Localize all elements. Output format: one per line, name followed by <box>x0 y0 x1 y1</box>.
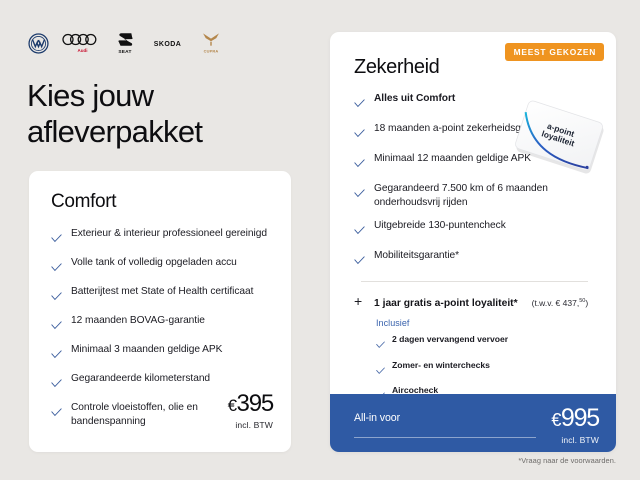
page-title: Kies jouw afleverpakket <box>27 78 302 150</box>
skoda-logo: SKODA <box>148 38 187 49</box>
loyalty-highlight-row: + 1 jaar gratis a-point loyaliteit* (t.w… <box>354 296 604 309</box>
feature-label: 12 maanden BOVAG-garantie <box>71 314 205 328</box>
comfort-price-vat: incl. BTW <box>228 420 273 430</box>
feature-label: Minimaal 12 maanden geldige APK <box>374 152 531 166</box>
feature-label: Gegarandeerde kilometerstand <box>71 372 210 386</box>
list-item: Zomer- en winterchecks <box>376 360 551 380</box>
feature-row: 18 maanden a-point zekerheidsgarantie <box>354 122 602 143</box>
comfort-package-card[interactable]: Comfort Exterieur & interieur profession… <box>29 171 291 452</box>
zekerheid-price-block: €995 incl. BTW <box>551 406 599 445</box>
check-icon <box>51 404 62 422</box>
brand-logo-strip: Audi SEAT SKODA CUPRA <box>28 31 222 55</box>
feature-label: 18 maanden a-point zekerheidsgarantie <box>374 122 552 136</box>
loyalty-value-prefix: (t.w.v. € 437, <box>532 298 580 308</box>
svg-text:SEAT: SEAT <box>118 49 131 55</box>
price-amount: 995 <box>561 404 599 432</box>
check-icon <box>51 346 62 364</box>
feature-row: Uitgebreide 130-puntencheck <box>354 219 602 240</box>
comfort-price-block: €395 incl. BTW <box>228 392 273 430</box>
check-icon <box>376 362 385 380</box>
inclusief-label: Inclusief <box>376 318 551 328</box>
svg-text:SKODA: SKODA <box>154 40 182 47</box>
cupra-logo: CUPRA <box>200 32 222 54</box>
zekerheid-price-vat: incl. BTW <box>551 435 599 445</box>
check-icon <box>51 317 62 335</box>
feature-row: Alles uit Comfort <box>354 92 602 113</box>
feature-label: Alles uit Comfort <box>374 92 455 106</box>
allin-label: All-in voor <box>354 412 400 424</box>
feature-row: Gegarandeerd 7.500 km of 6 maanden onder… <box>354 182 602 210</box>
comfort-title: Comfort <box>51 191 116 213</box>
zekerheid-package-card[interactable]: MEEST GEKOZEN Zekerheid Alles uit Comfor… <box>330 32 616 452</box>
list-item: 2 dagen vervangend vervoer <box>376 334 551 354</box>
list-item-label: Zomer- en winterchecks <box>392 360 490 370</box>
svg-text:Audi: Audi <box>77 48 87 53</box>
feature-row: 12 maanden BOVAG-garantie <box>51 314 273 335</box>
check-icon <box>354 155 365 173</box>
comfort-price: €395 <box>228 392 273 416</box>
check-icon <box>51 288 62 306</box>
feature-row: Minimaal 3 maanden geldige APK <box>51 343 273 364</box>
check-icon <box>51 259 62 277</box>
zekerheid-feature-list: Alles uit Comfort 18 maanden a-point zek… <box>354 92 602 279</box>
seat-logo: SEAT <box>115 32 135 55</box>
currency-symbol: € <box>228 396 237 415</box>
list-item-label: 2 dagen vervangend vervoer <box>392 334 508 344</box>
price-amount: 395 <box>237 390 273 417</box>
left-column: Audi SEAT SKODA CUPRA Kies <box>0 0 320 480</box>
currency-symbol: € <box>551 410 561 430</box>
feature-label: Volle tank of volledig opgeladen accu <box>71 256 237 270</box>
audi-logo: Audi <box>62 33 102 54</box>
status-badge: MEEST GEKOZEN <box>505 43 604 61</box>
feature-label: Uitgebreide 130-puntencheck <box>374 219 506 233</box>
check-icon <box>51 375 62 393</box>
zekerheid-title: Zekerheid <box>354 56 439 79</box>
loyalty-label: 1 jaar gratis a-point loyaliteit* <box>374 298 518 309</box>
feature-row: Exterieur & interieur professioneel gere… <box>51 227 273 248</box>
svg-text:CUPRA: CUPRA <box>204 49 219 54</box>
feature-row: Minimaal 12 maanden geldige APK <box>354 152 602 173</box>
zekerheid-price-footer: All-in voor €995 incl. BTW <box>330 394 616 452</box>
footnote: *Vraag naar de voorwaarden. <box>518 456 616 465</box>
check-icon <box>354 95 365 113</box>
feature-row: Mobiliteitsgarantie* <box>354 249 602 270</box>
check-icon <box>354 252 365 270</box>
feature-label: Minimaal 3 maanden geldige APK <box>71 343 222 357</box>
loyalty-value-suffix: ) <box>585 298 588 308</box>
check-icon <box>354 222 365 240</box>
check-icon <box>354 185 365 203</box>
loyalty-value: (t.w.v. € 437,50) <box>532 298 589 308</box>
check-icon <box>51 230 62 248</box>
feature-label: Batterijtest met State of Health certifi… <box>71 285 253 299</box>
zekerheid-price: €995 <box>551 406 599 431</box>
check-icon <box>376 336 385 354</box>
feature-row: Batterijtest met State of Health certifi… <box>51 285 273 306</box>
divider <box>361 281 588 282</box>
volkswagen-logo <box>28 33 49 54</box>
feature-row: Volle tank of volledig opgeladen accu <box>51 256 273 277</box>
check-icon <box>354 125 365 143</box>
feature-label: Mobiliteitsgarantie* <box>374 249 459 263</box>
feature-label: Gegarandeerd 7.500 km of 6 maanden onder… <box>374 182 602 210</box>
plus-icon: + <box>354 295 365 308</box>
feature-label: Exterieur & interieur professioneel gere… <box>71 227 267 241</box>
divider <box>354 437 536 438</box>
